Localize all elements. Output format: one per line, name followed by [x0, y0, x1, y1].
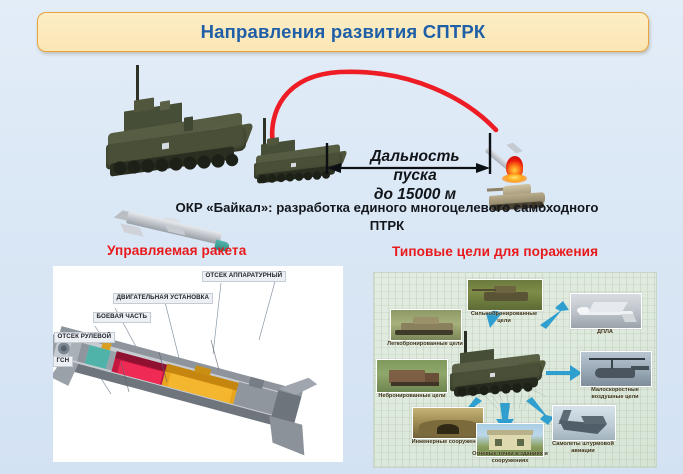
okr-baikal-caption: ОКР «Байкал»: разработка единого многоце… [172, 199, 602, 234]
sptrk-vehicle-icon [446, 331, 550, 403]
attack-aircraft-photo [552, 405, 616, 441]
missile-cutaway-panel: ОТСЕК АППАРАТУРНЫЙ ДВИГАТЕЛЬНАЯ УСТАНОВК… [53, 266, 343, 462]
section-header-targets: Типовые цели для поражения [392, 244, 598, 259]
page-title: Направления развития СПТРК [201, 21, 486, 43]
launch-range-label: Дальность пуска до 15000 м [330, 148, 500, 205]
road-wheels-icon [452, 379, 544, 399]
cutaway-label-warhead: БОЕВАЯ ЧАСТЬ [93, 312, 151, 323]
target-label-uav: ДПЛА [580, 329, 630, 336]
fortification-photo [412, 407, 484, 439]
slide-title-box: Направления развития СПТРК [37, 12, 649, 52]
cutaway-label-rudder-bay: ОТСЕК РУЛЕВОЙ [54, 332, 115, 343]
section-header-missile: Управляемая ракета [107, 243, 246, 258]
slide-root: Направления развития СПТРК [0, 0, 683, 474]
heavy-armor-tank-photo [467, 279, 543, 311]
target-label-heavy-armor: Сильнобронированные цели [467, 311, 541, 325]
typical-targets-panel: Сильнобронированные цели Легкобронирован… [373, 272, 657, 468]
target-label-attack-aircraft: Самолеты штурмовой авиации [544, 441, 622, 455]
unarmored-truck-photo [376, 359, 448, 393]
upper-scene: Дальность пуска до 15000 м [0, 50, 683, 200]
cutaway-label-propulsion: ДВИГАТЕЛЬНАЯ УСТАНОВКА [113, 293, 213, 304]
cutaway-label-equipment-bay: ОТСЕК АППАРАТУРНЫЙ [202, 271, 286, 282]
uav-drone-photo [570, 293, 642, 329]
target-label-low-speed-air: Малоскоростные воздушные цели [576, 387, 654, 401]
cutaway-label-seeker: ГСН [53, 356, 73, 367]
target-label-engineering: Инженерные сооружения [408, 439, 486, 446]
target-label-unarmored: Небронированные цели [374, 393, 450, 400]
range-label-line-2: пуска [330, 167, 500, 186]
helicopter-photo [580, 351, 652, 387]
range-label-line-1: Дальность [330, 148, 500, 167]
